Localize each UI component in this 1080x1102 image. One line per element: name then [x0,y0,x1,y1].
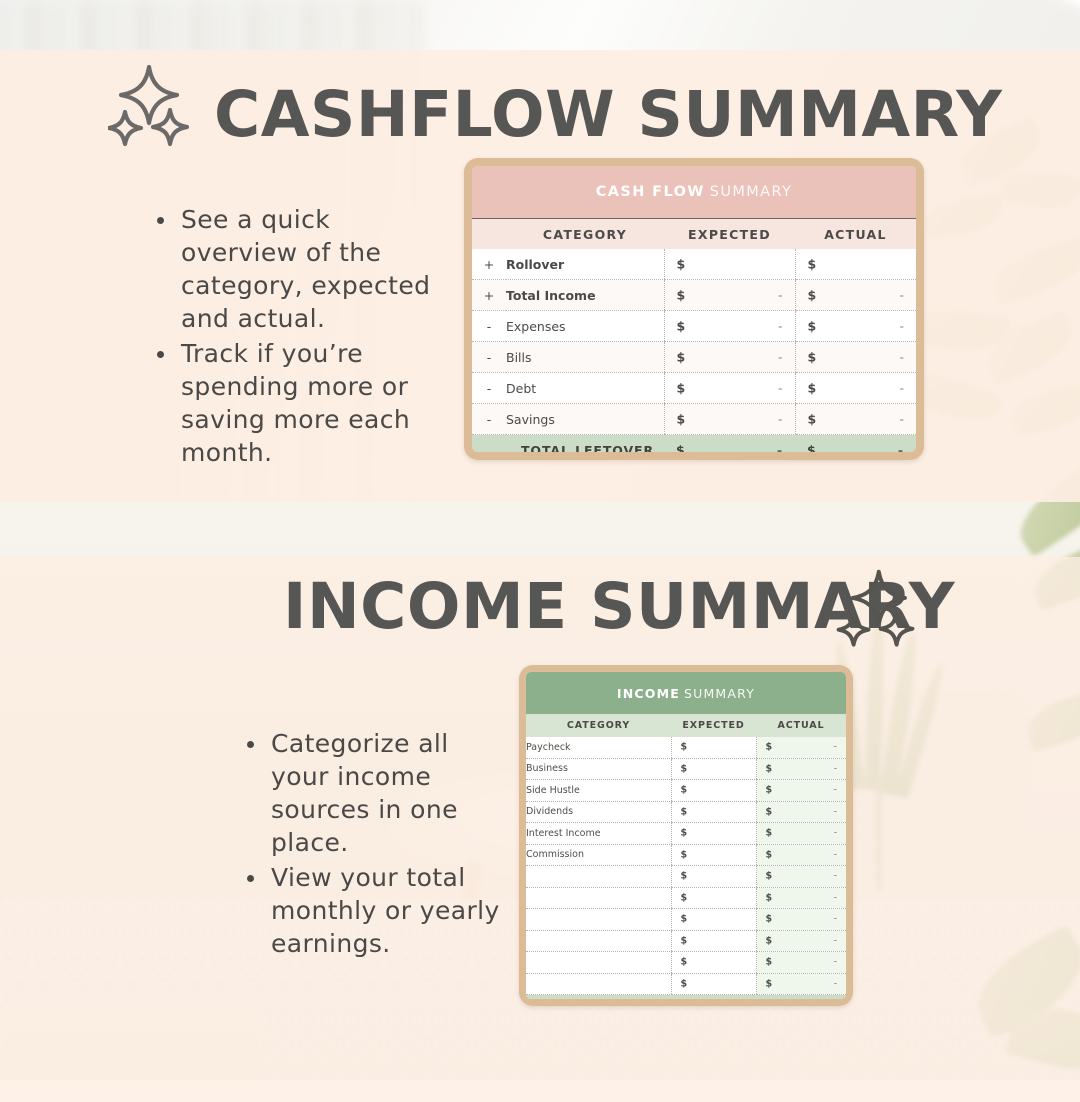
row-category: Dividends [526,801,671,823]
row-expected[interactable]: $ - [664,342,795,373]
value: - [834,957,837,968]
row-actual[interactable]: $- [756,930,846,952]
row-expected[interactable]: $ [664,249,795,280]
sparkles-icon [833,568,919,654]
table-row[interactable]: Paycheck$$- [526,737,846,758]
row-expected[interactable]: $ [671,780,756,802]
currency-symbol: $ [766,957,773,968]
row-expected[interactable]: $ [671,823,756,845]
table-row[interactable]: - Savings $ - $ - [472,404,916,435]
col-header-actual: ACTUAL [756,714,846,737]
row-category: Savings [506,404,664,435]
row-expected[interactable]: $ - [664,373,795,404]
total-expected: $ - [664,435,795,453]
row-actual[interactable]: $- [756,952,846,974]
value: - [834,849,837,860]
currency-symbol: $ [766,849,773,860]
row-category [526,866,671,888]
table-row[interactable]: $$- [526,930,846,952]
table-row[interactable]: - Debt $ - $ - [472,373,916,404]
col-header-expected: EXPECTED [664,219,795,249]
total-label: TOTAL LEFTOVER [472,435,664,453]
col-header-sign [472,219,506,249]
row-actual[interactable]: $- [756,887,846,909]
total-actual: $- [756,995,846,1000]
value: - [834,935,837,946]
list-item: Categorize all your income sources in on… [243,727,503,859]
row-sign: + [472,280,506,311]
table-total-row: TOTAL LEFTOVER $ - $ - [472,435,916,453]
row-category [526,909,671,931]
table-header-row: CATEGORY EXPECTED ACTUAL [472,219,916,249]
table-row[interactable]: + Total Income $ - $ - [472,280,916,311]
value: - [899,350,904,365]
row-actual[interactable]: $- [756,780,846,802]
currency-symbol: $ [808,381,817,396]
row-expected[interactable]: $ - [664,280,795,311]
row-category: Commission [526,844,671,866]
row-sign: - [472,404,506,435]
row-actual[interactable]: $ - [795,373,916,404]
currency-symbol: $ [766,742,773,753]
currency-symbol: $ [681,978,688,989]
col-header-category: CATEGORY [526,714,671,737]
row-sign: - [472,373,506,404]
currency-symbol: $ [766,785,773,796]
currency-symbol: $ [677,412,686,427]
value: - [898,443,904,453]
currency-symbol: $ [681,871,688,882]
value: - [834,914,837,925]
row-expected[interactable]: $ [671,909,756,931]
row-sign: - [472,342,506,373]
row-actual[interactable]: $- [756,758,846,780]
table-header-row: CATEGORY EXPECTED ACTUAL [526,714,846,737]
value: - [834,763,837,774]
value: - [778,288,783,303]
total-actual: $ - [795,435,916,453]
currency-symbol: $ [681,892,688,903]
col-header-expected: EXPECTED [671,714,756,737]
currency-symbol: $ [766,914,773,925]
row-expected[interactable]: $ - [664,404,795,435]
row-category [526,930,671,952]
row-category: Side Hustle [526,780,671,802]
row-category: Business [526,758,671,780]
currency-symbol: $ [677,350,686,365]
value: - [834,828,837,839]
col-header-category: CATEGORY [506,219,664,249]
currency-symbol: $ [808,257,817,272]
table-total-row: TOTAL INCOME$-$- [526,995,846,1000]
table-row[interactable]: - Bills $ - $ - [472,342,916,373]
list-item: See a quick overview of the category, ex… [153,203,443,335]
value: - [778,350,783,365]
currency-symbol: $ [676,443,686,453]
list-item: View your total monthly or yearly earnin… [243,861,503,960]
row-actual[interactable]: $ - [795,404,916,435]
row-category [526,973,671,995]
income-table: CATEGORY EXPECTED ACTUAL Paycheck$$-Busi… [526,714,846,999]
currency-symbol: $ [681,763,688,774]
currency-symbol: $ [766,871,773,882]
cashflow-summary-card: CASH FLOW SUMMARY CATEGORY EXPECTED ACTU… [464,158,924,460]
value: - [778,319,783,334]
row-category [526,887,671,909]
row-actual[interactable]: $- [756,866,846,888]
currency-symbol: $ [766,935,773,946]
col-header-actual: ACTUAL [795,219,916,249]
row-category: Paycheck [526,737,671,758]
currency-symbol: $ [766,828,773,839]
cashflow-title-light: SUMMARY [710,184,793,200]
value: - [834,806,837,817]
table-row[interactable]: $$- [526,973,846,995]
cashflow-title-bold: CASH FLOW [596,184,705,200]
currency-symbol: $ [808,412,817,427]
row-expected[interactable]: $ [671,758,756,780]
row-actual[interactable]: $ - [795,342,916,373]
row-expected[interactable]: $ [671,887,756,909]
table-row[interactable]: Interest Income$$- [526,823,846,845]
cashflow-table-title: CASH FLOW SUMMARY [472,166,916,219]
value: - [778,381,783,396]
table-row[interactable]: Side Hustle$$- [526,780,846,802]
value: - [834,785,837,796]
row-expected[interactable]: $ [671,737,756,758]
row-actual[interactable]: $ - [795,311,916,342]
table-row[interactable]: $$- [526,866,846,888]
row-expected[interactable]: $ [671,866,756,888]
currency-symbol: $ [808,319,817,334]
currency-symbol: $ [677,257,686,272]
currency-symbol: $ [681,806,688,817]
table-row[interactable]: $$- [526,952,846,974]
currency-symbol: $ [677,381,686,396]
value: - [834,892,837,903]
value: - [778,412,783,427]
currency-symbol: $ [677,288,686,303]
list-item: Track if you’re spending more or saving … [153,337,443,469]
value: - [899,381,904,396]
row-actual[interactable]: $- [756,909,846,931]
income-summary-card: INCOME SUMMARY CATEGORY EXPECTED ACTUAL … [519,665,853,1006]
currency-symbol: $ [766,763,773,774]
table-row[interactable]: Dividends$$- [526,801,846,823]
table-row[interactable]: $$- [526,887,846,909]
total-expected: $- [671,995,756,1000]
table-row[interactable]: Business$$- [526,758,846,780]
currency-symbol: $ [766,892,773,903]
value: - [777,443,783,453]
row-expected[interactable]: $ [671,801,756,823]
sparkles-icon [108,62,200,154]
income-table-title: INCOME SUMMARY [526,672,846,714]
row-expected[interactable]: $ [671,930,756,952]
row-expected[interactable]: $ - [664,311,795,342]
income-title-bold: INCOME [617,686,680,701]
row-category: Bills [506,342,664,373]
currency-symbol: $ [677,319,686,334]
currency-symbol: $ [681,849,688,860]
row-category [526,952,671,974]
row-sign: + [472,249,506,280]
value: - [899,412,904,427]
value: - [834,871,837,882]
currency-symbol: $ [681,935,688,946]
currency-symbol: $ [681,828,688,839]
row-category: Interest Income [526,823,671,845]
currency-symbol: $ [681,914,688,925]
value: - [834,742,837,753]
value: - [834,978,837,989]
row-actual[interactable]: $- [756,844,846,866]
row-actual[interactable]: $- [756,737,846,758]
bullet-list-income: Categorize all your income sources in on… [243,727,503,962]
row-expected[interactable]: $ [671,952,756,974]
currency-symbol: $ [681,742,688,753]
currency-symbol: $ [808,350,817,365]
currency-symbol: $ [681,785,688,796]
currency-symbol: $ [808,288,817,303]
currency-symbol: $ [681,957,688,968]
currency-symbol: $ [807,443,817,453]
income-title-light: SUMMARY [684,686,755,701]
table-row[interactable]: - Expenses $ - $ - [472,311,916,342]
table-row[interactable]: $$- [526,909,846,931]
row-actual[interactable]: $- [756,823,846,845]
row-category: Rollover [506,249,664,280]
row-actual[interactable]: $ - [795,280,916,311]
currency-symbol: $ [766,978,773,989]
table-row[interactable]: + Rollover $ $ [472,249,916,280]
row-sign: - [472,311,506,342]
row-category: Debt [506,373,664,404]
total-label: TOTAL INCOME [526,995,671,1000]
row-actual[interactable]: $- [756,973,846,995]
row-category: Expenses [506,311,664,342]
page-title-cashflow: CASHFLOW SUMMARY [214,78,1002,151]
row-actual[interactable]: $ [795,249,916,280]
bullet-list-cashflow: See a quick overview of the category, ex… [153,203,443,471]
value: - [899,319,904,334]
row-expected[interactable]: $ [671,844,756,866]
value: - [899,288,904,303]
row-expected[interactable]: $ [671,973,756,995]
row-actual[interactable]: $- [756,801,846,823]
cashflow-table: CATEGORY EXPECTED ACTUAL + Rollover $ [472,219,916,452]
table-row[interactable]: Commission$$- [526,844,846,866]
currency-symbol: $ [766,806,773,817]
row-category: Total Income [506,280,664,311]
